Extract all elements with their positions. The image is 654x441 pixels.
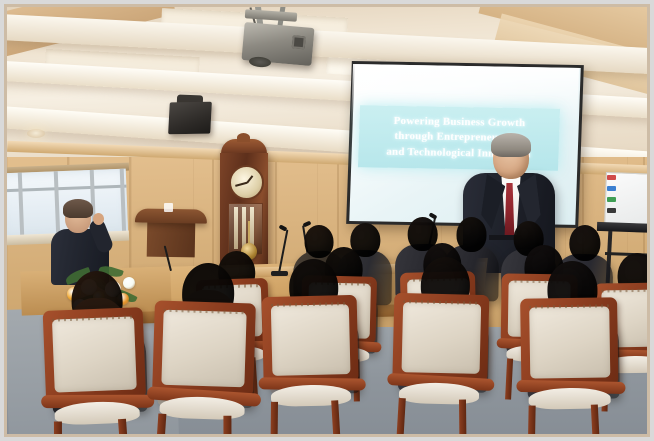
seated-official-hair [63,199,93,218]
audience-chair [43,307,148,434]
chair-upholstery [402,302,482,374]
recessed-light-3 [27,129,45,138]
chair-upholstery [161,310,246,388]
marker-tray-icons [607,175,617,221]
clock-minute-hand [235,182,247,187]
chair-leg [459,400,467,434]
lectern-body [147,221,196,258]
audience-chair [262,295,360,414]
chair-leg [155,413,167,434]
slide-title-band: Powering Business Growththrough Entrepre… [358,105,560,170]
water-glass [164,203,173,212]
audience-chair [151,300,256,428]
chair-leg [54,421,62,434]
audience-chair [392,293,490,412]
chair-leg [528,406,536,434]
chair-upholstery [52,316,137,392]
pendulum-rod [248,221,250,245]
chair-upholstery [529,306,610,378]
presenter-hair [491,133,531,157]
photo-frame: Powering Business Growththrough Entrepre… [0,0,654,441]
chair-seat-cushion [528,387,610,409]
chair-leg [223,416,231,434]
chair-upholstery [271,304,351,376]
clock-face [229,165,264,200]
conference-room-scene: Powering Business Growththrough Entrepre… [7,7,647,434]
wall-speaker-icon [168,102,212,135]
chair-seat-cushion [271,384,351,407]
seated-official-hand [93,213,104,225]
chair-leg [270,402,278,434]
audience-chair [520,297,619,418]
